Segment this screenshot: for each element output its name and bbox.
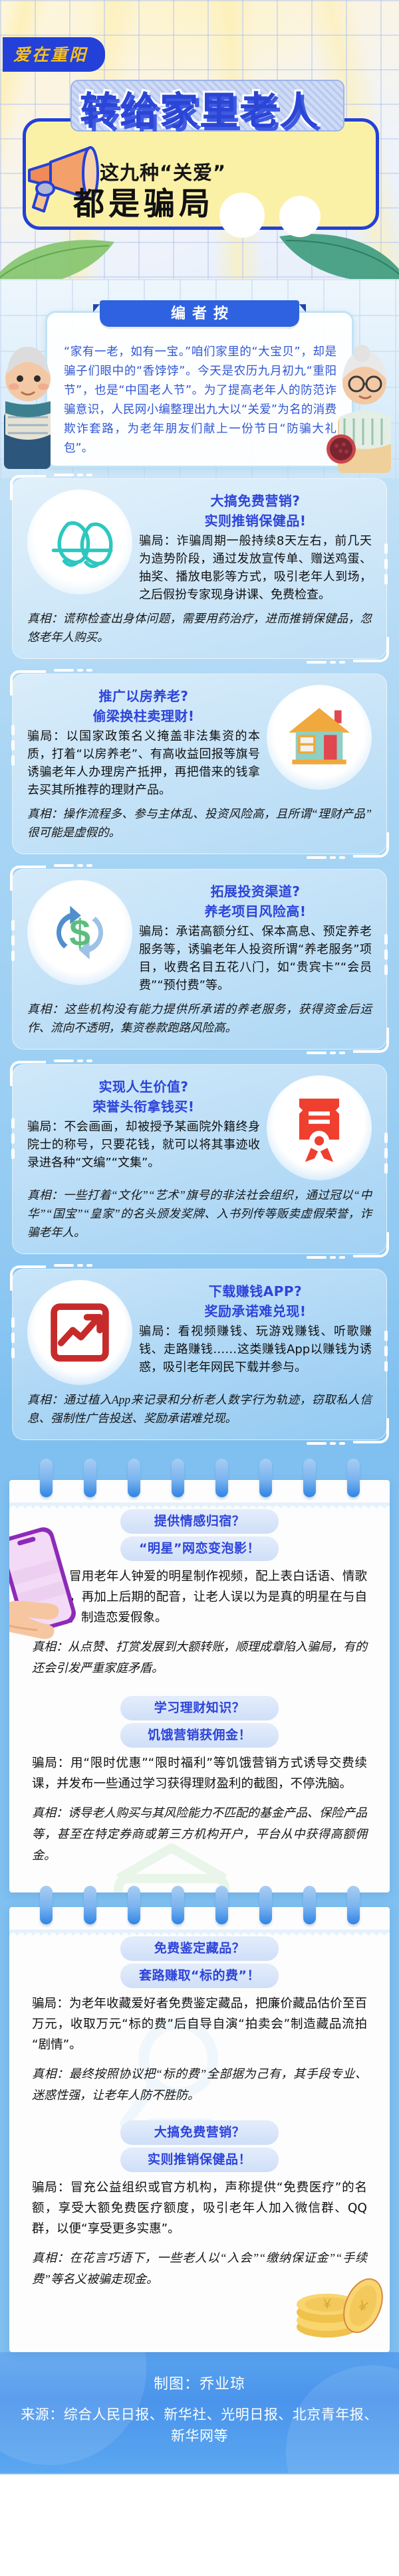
main-title-line3: 都是骗局 bbox=[73, 188, 379, 221]
dash-decoration bbox=[54, 669, 92, 672]
scam-heading-4b: 荣誉头衔拿钱买! bbox=[27, 1098, 260, 1115]
certificate-icon bbox=[267, 1075, 372, 1180]
scam-truth-7: 真相：诱导老人购买与其风险能力不匹配的基金产品、保险产品等，甚至在特定券商或第三… bbox=[32, 1802, 367, 1866]
house-icon bbox=[267, 685, 372, 790]
dash-decoration bbox=[307, 1442, 345, 1445]
scam-heading-3a: 拓展投资渠道? bbox=[139, 883, 372, 900]
scam-body-8: 骗局：为老年收藏爱好者免费鉴定藏品，把廉价藏品估价至百万元，收取万元“标的费”后… bbox=[32, 1993, 367, 2055]
dash-decoration bbox=[307, 1052, 345, 1054]
torn-edge-decoration bbox=[9, 1503, 390, 1509]
scam-card-3: $ 拓展投资渠道? 养老项目风险高! 骗局：承诺高额分红、保本高息、预定养老服务… bbox=[12, 869, 387, 1050]
editor-note-heading: 编者按 bbox=[100, 300, 299, 327]
notebook-block-1: 提供情感归宿？ “明星”网恋变泡影！ 骗局：冒用老年人钟爱的明星制作视频，配上表… bbox=[9, 1459, 390, 1892]
scam-heading-2b: 偷梁换柱卖理财! bbox=[27, 707, 260, 725]
scam-body-2: 骗局：以国家政策名义掩盖非法集资的本质，打着“以房养老”、有高收益回报等旗号诱骗… bbox=[27, 727, 260, 799]
tick-decoration bbox=[384, 1133, 388, 1174]
editor-note-body: “家有一老，如有一宝。”咱们家里的“大宝贝”，却是骗子们眼中的“香饽饽”。今天是… bbox=[64, 343, 336, 458]
tick-decoration bbox=[384, 1331, 388, 1372]
scam-card-1: 大搞免费营销? 实则推销保健品! 骗局：诈骗周期一般持续8天左右，前几天为造势阶… bbox=[12, 478, 387, 659]
infographic-poster: 爱在重阳 转给家里老人 这九种“关爱” 都是骗局 bbox=[0, 0, 399, 2576]
bowl-icon bbox=[323, 433, 359, 465]
notebook-block-2: 免费鉴定藏品？ 套路赚取“标的费”！ 骗局：为老年收藏爱好者免费鉴定藏品，把廉价… bbox=[9, 1886, 390, 2352]
scam-truth-8: 真相：最终按照协议把“标的费”全部据为己有，其手段专业、迷惑性强，让老年人防不胜… bbox=[32, 2063, 367, 2106]
tick-decoration bbox=[384, 543, 388, 585]
editor-note-section: 编者按 “家有一老，如有一宝。”咱们家里的“大宝贝”，却是骗子们眼中的“香饽饽”… bbox=[0, 279, 399, 478]
scam-body-9: 骗局：冒充公益组织或官方机构，声称提供“免费医疗”的名额，享受大额免费医疗额度，… bbox=[32, 2177, 367, 2239]
scam-heading-5b: 奖励承诺难兑现! bbox=[139, 1303, 372, 1320]
dash-decoration bbox=[54, 474, 92, 476]
notebook-sheet-2: 免费鉴定藏品？ 套路赚取“标的费”！ 骗局：为老年收藏爱好者免费鉴定藏品，把廉价… bbox=[9, 1907, 390, 2352]
footer-source: 来源：综合人民日报、新华社、光明日报、北京青年报、新华网等 bbox=[20, 2404, 379, 2446]
dash-decoration bbox=[307, 661, 345, 664]
scam-card-4: 实现人生价值? 荣誉头衔拿钱买! 骗局：不会画画，却被授予某画院外籍终身院士的称… bbox=[12, 1064, 387, 1254]
tick-decoration bbox=[11, 725, 15, 766]
main-title-line1: 转给家里老人 bbox=[0, 90, 399, 132]
money-cycle-icon: $ bbox=[27, 880, 132, 985]
scam-heading-9b: 实则推销保健品！ bbox=[120, 2148, 279, 2172]
dash-decoration bbox=[54, 864, 92, 867]
phone-in-hand-icon bbox=[9, 1517, 98, 1670]
scam-body-1: 骗局：诈骗周期一般持续8天左右，前几天为造势阶段，通过发放宣传单、赠送鸡蛋、抽奖… bbox=[139, 532, 372, 604]
tick-decoration bbox=[11, 920, 15, 961]
poster-body: 编者按 “家有一老，如有一宝。”咱们家里的“大宝贝”，却是骗子们眼中的“香饽饽”… bbox=[0, 279, 399, 2474]
scam-body-3: 骗局：承诺高额分红、保本高息、预定养老服务等，诱骗老年人投资所谓“养老服务”项目… bbox=[139, 923, 372, 994]
scam-truth-2: 真相：操作流程多、参与主体乱、投资风险高，且所谓“理财产品”很可能是虚假的。 bbox=[27, 804, 372, 842]
scam-truth-5: 真相：通过植入App来记录和分析老人数字行为轨迹，窃取私人信息、强制性广告投送、… bbox=[27, 1390, 372, 1427]
scam-truth-4: 真相：一些打着“文化”“艺术”旗号的非法社会组织，通过冠以“中华”“国宝”“皇家… bbox=[27, 1186, 372, 1242]
dash-decoration bbox=[307, 856, 345, 859]
scam-body-4: 骗局：不会画画，却被授予某画院外籍终身院士的称号，只要花钱，就可以将其事迹收录进… bbox=[27, 1118, 260, 1172]
scam-heading-6a: 提供情感归宿？ bbox=[120, 1509, 279, 1534]
tick-decoration bbox=[11, 1118, 15, 1159]
scam-card-2: 推广以房养老? 偷梁换柱卖理财! 骗局：以国家政策名义掩盖非法集资的本质，打着“… bbox=[12, 674, 387, 854]
scam-body-7: 骗局：用“限时优惠”“限时福利”等饥饿营销方式诱导交费续课，并发布一些通过学习获… bbox=[32, 1753, 367, 1794]
main-title-line2: 这九种“关爱” bbox=[100, 162, 379, 183]
scam-heading-2a: 推广以房养老? bbox=[27, 688, 260, 705]
scam-heading-1b: 实则推销保健品! bbox=[139, 512, 372, 529]
dash-decoration bbox=[307, 1256, 345, 1259]
scam-heading-4a: 实现人生价值? bbox=[27, 1078, 260, 1095]
scam-truth-1: 真相：谎称检查出身体问题，需要用药治疗，进而推销保健品，忽悠老年人购买。 bbox=[27, 609, 372, 646]
spiral-binding bbox=[9, 1886, 390, 1928]
spiral-binding bbox=[9, 1459, 390, 1501]
poster-header: 爱在重阳 转给家里老人 这九种“关爱” 都是骗局 bbox=[0, 0, 399, 279]
eggs-icon bbox=[27, 490, 132, 595]
scam-heading-7b: 饥饿营销获佣金！ bbox=[120, 1723, 279, 1748]
dash-decoration bbox=[54, 1059, 92, 1062]
scam-heading-8b: 套路赚取“标的费”！ bbox=[120, 1964, 279, 1988]
festival-badge: 爱在重阳 bbox=[3, 37, 105, 72]
scam-truth-3: 真相：这些机构没有能力提供所承诺的养老服务，获得资金后运作、流向不透明，集资卷款… bbox=[27, 1000, 372, 1037]
scam-heading-5a: 下载赚钱APP? bbox=[139, 1283, 372, 1300]
scam-body-5: 骗局：看视频赚钱、玩游戏赚钱、听歌赚钱、走路赚钱……这类赚钱App以赚钱为诱惑，… bbox=[139, 1323, 372, 1376]
scam-heading-6b: “明星”网恋变泡影！ bbox=[120, 1536, 279, 1561]
scam-heading-9a: 大搞免费营销？ bbox=[120, 2120, 279, 2145]
torn-edge-decoration bbox=[9, 1930, 390, 1936]
notebook-sheet-1: 提供情感归宿？ “明星”网恋变泡影！ 骗局：冒用老年人钟爱的明星制作视频，配上表… bbox=[9, 1480, 390, 1892]
scam-heading-1a: 大搞免费营销? bbox=[139, 492, 372, 509]
tick-decoration bbox=[11, 1317, 15, 1358]
svg-text:¥: ¥ bbox=[323, 2297, 331, 2312]
scam-heading-3b: 养老项目风险高! bbox=[139, 903, 372, 920]
chart-up-icon bbox=[27, 1280, 132, 1385]
svg-text:$: $ bbox=[69, 913, 90, 955]
scam-heading-7a: 学习理财知识？ bbox=[120, 1696, 279, 1720]
scam-heading-8a: 免费鉴定藏品？ bbox=[120, 1936, 279, 1961]
tick-decoration bbox=[384, 934, 388, 975]
poster-footer: 制图：乔业琼 来源：综合人民日报、新华社、光明日报、北京青年报、新华网等 bbox=[0, 2352, 399, 2473]
dash-decoration bbox=[54, 1264, 92, 1267]
footer-credit: 制图：乔业琼 bbox=[20, 2375, 379, 2395]
elderly-man-illustration bbox=[1, 337, 70, 470]
scam-card-5: 下载赚钱APP? 奖励承诺难兑现! 骗局：看视频赚钱、玩游戏赚钱、听歌赚钱、走路… bbox=[12, 1269, 387, 1440]
coins-icon: ¥ ¥ bbox=[286, 2263, 386, 2343]
